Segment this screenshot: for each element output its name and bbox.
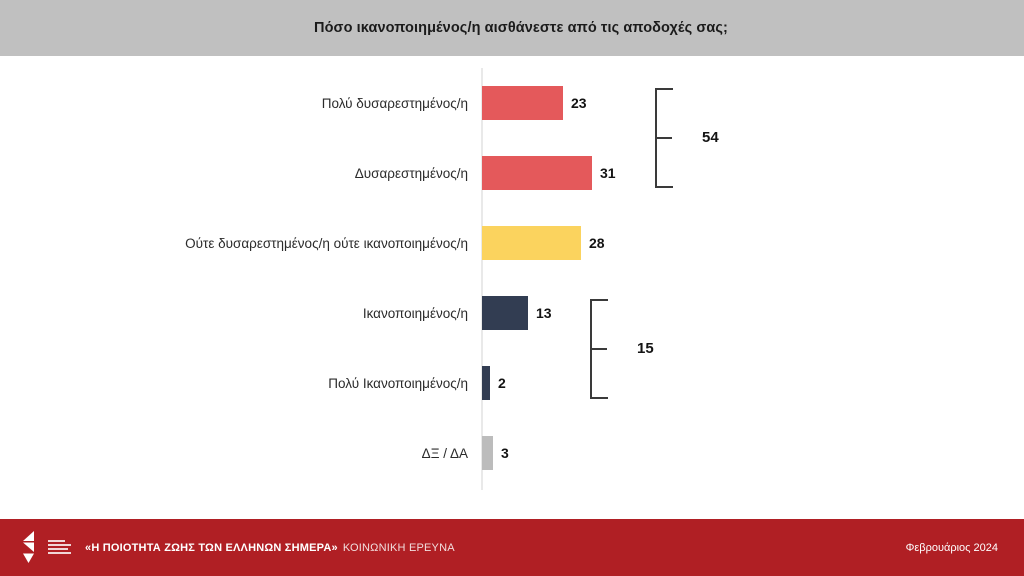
bracket-total-positive: 15 bbox=[637, 340, 654, 357]
bar-group: 13 bbox=[482, 296, 552, 330]
bar-value-label: 2 bbox=[498, 375, 506, 391]
chart-bar-rows: Πολύ δυσαρεστημένος/η 23 Δυσαρεστημένος/… bbox=[0, 68, 1024, 490]
bar-group: 3 bbox=[482, 436, 509, 470]
footer-date: Φεβρουάριος 2024 bbox=[906, 519, 998, 576]
bar-group: 2 bbox=[482, 366, 506, 400]
bar[interactable] bbox=[482, 226, 581, 260]
bracket-nub bbox=[655, 137, 672, 139]
footer-study-label: «Η ΠΟΙΟΤΗΤΑ ΖΩΗΣ ΤΩΝ ΕΛΛΗΝΩΝ ΣΗΜΕΡΑ» ΚΟΙ… bbox=[85, 519, 455, 576]
category-label: ΔΞ / ΔΑ bbox=[48, 446, 468, 461]
bar-group: 31 bbox=[482, 156, 616, 190]
bracket-total-negative: 54 bbox=[702, 129, 719, 146]
category-label: Δυσαρεστημένος/η bbox=[48, 166, 468, 181]
category-label: Πολύ δυσαρεστημένος/η bbox=[48, 96, 468, 111]
bracket-negative-group bbox=[655, 88, 673, 188]
header-band: Πόσο ικανοποιημένος/η αισθάνεστε από τις… bbox=[0, 0, 1024, 56]
bar-value-label: 13 bbox=[536, 305, 552, 321]
bar[interactable] bbox=[482, 436, 493, 470]
footer-bar: «Η ΠΟΙΟΤΗΤΑ ΖΩΗΣ ΤΩΝ ΕΛΛΗΝΩΝ ΣΗΜΕΡΑ» ΚΟΙ… bbox=[0, 519, 1024, 576]
bracket-nub bbox=[590, 348, 607, 350]
chart-row: Πολύ δυσαρεστημένος/η 23 bbox=[0, 68, 1024, 138]
bar[interactable] bbox=[482, 86, 563, 120]
chart-row: Ικανοποιημένος/η 13 bbox=[0, 278, 1024, 348]
category-label: Ούτε δυσαρεστημένος/η ούτε ικανοποιημένο… bbox=[48, 236, 468, 251]
category-label: Ικανοποιημένος/η bbox=[48, 306, 468, 321]
chart-row: Ούτε δυσαρεστημένος/η ούτε ικανοποιημένο… bbox=[0, 208, 1024, 278]
chart-area: Πολύ δυσαρεστημένος/η 23 Δυσαρεστημένος/… bbox=[0, 56, 1024, 519]
bracket-positive-group bbox=[590, 299, 608, 399]
chart-row: Πολύ Ικανοποιημένος/η 2 bbox=[0, 348, 1024, 418]
chart-row: Δυσαρεστημένος/η 31 bbox=[0, 138, 1024, 208]
footer-study-subtitle: ΚΟΙΝΩΝΙΚΗ ΕΡΕΥΝΑ bbox=[343, 542, 455, 554]
category-label: Πολύ Ικανοποιημένος/η bbox=[48, 376, 468, 391]
bar-value-label: 31 bbox=[600, 165, 616, 181]
page-title: Πόσο ικανοποιημένος/η αισθάνεστε από τις… bbox=[0, 0, 1024, 56]
logo-wordmark-lines bbox=[48, 540, 71, 554]
bar-group: 23 bbox=[482, 86, 587, 120]
bar[interactable] bbox=[482, 296, 528, 330]
bar-value-label: 3 bbox=[501, 445, 509, 461]
bar-group: 28 bbox=[482, 226, 605, 260]
bar[interactable] bbox=[482, 156, 592, 190]
chevron-logo-icon bbox=[20, 530, 42, 564]
footer-study-title: «Η ΠΟΙΟΤΗΤΑ ΖΩΗΣ ΤΩΝ ΕΛΛΗΝΩΝ ΣΗΜΕΡΑ» bbox=[85, 542, 338, 554]
bar-value-label: 23 bbox=[571, 95, 587, 111]
chart-row: ΔΞ / ΔΑ 3 bbox=[0, 418, 1024, 488]
footer-logo bbox=[20, 528, 78, 566]
bar-value-label: 28 bbox=[589, 235, 605, 251]
bar[interactable] bbox=[482, 366, 490, 400]
